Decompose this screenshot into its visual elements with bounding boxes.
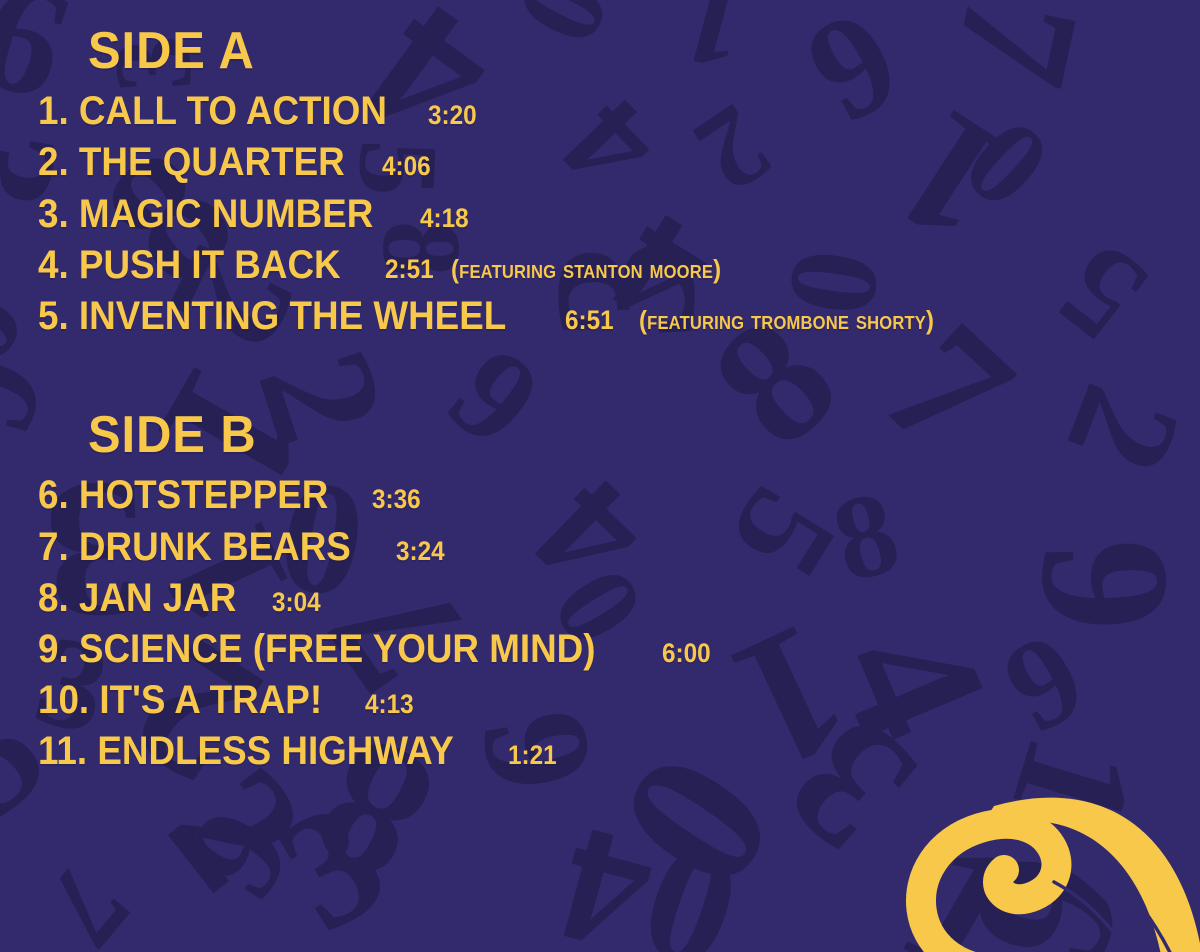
track-duration: 4:18 <box>420 203 469 234</box>
tracklist: SIDE A 1. CALL TO ACTION 3:20 2. THE QUA… <box>0 0 1200 778</box>
track-title: 7. DRUNK BEARS <box>38 525 351 570</box>
track-row: 8. JAN JAR 3:04 <box>38 573 1200 624</box>
track-feature-credit: (FEATURING TROMBONE SHORTY) <box>639 306 934 335</box>
track-row: 6. HOTSTEPPER 3:36 <box>38 470 1200 521</box>
track-row: 5. INVENTING THE WHEEL 6:51 (FEATURING T… <box>38 291 1200 342</box>
side-a-heading: SIDE A <box>88 22 1133 80</box>
track-duration: 2:51 <box>385 254 434 285</box>
track-duration: 1:21 <box>508 740 557 771</box>
track-title: 6. HOTSTEPPER <box>38 473 328 518</box>
background-numeral: 7 <box>33 854 142 952</box>
background-numeral: 6 <box>957 835 1143 952</box>
track-title: 11. ENDLESS HIGHWAY <box>38 729 454 774</box>
track-duration: 4:13 <box>365 689 414 720</box>
track-title: 2. THE QUARTER <box>38 140 345 185</box>
background-numeral: 3 <box>262 788 400 945</box>
track-title: 3. MAGIC NUMBER <box>38 192 373 237</box>
track-row: 1. CALL TO ACTION 3:20 <box>38 86 1200 137</box>
track-duration: 3:04 <box>272 587 321 618</box>
album-track-listing-sleeve: 9340167385421062834056129872310458632701… <box>0 0 1200 952</box>
track-title: 4. PUSH IT BACK <box>38 243 341 288</box>
track-title: 8. JAN JAR <box>38 576 236 621</box>
track-duration: 3:36 <box>372 484 421 515</box>
track-row: 3. MAGIC NUMBER 4:18 <box>38 189 1200 240</box>
background-numeral: 9 <box>173 796 302 911</box>
track-title: 9. SCIENCE (FREE YOUR MIND) <box>38 627 596 672</box>
track-duration: 4:06 <box>382 151 431 182</box>
track-row: 4. PUSH IT BACK 2:51 (FEATURING STANTON … <box>38 240 1200 291</box>
track-feature-credit: (FEATURING STANTON MOORE) <box>451 255 721 284</box>
track-title: 10. IT'S A TRAP! <box>38 678 322 723</box>
track-row: 9. SCIENCE (FREE YOUR MIND) 6:00 <box>38 624 1200 675</box>
track-duration: 3:20 <box>428 100 477 131</box>
track-row: 7. DRUNK BEARS 3:24 <box>38 522 1200 573</box>
track-title: 5. INVENTING THE WHEEL <box>38 294 506 339</box>
track-duration: 6:00 <box>662 638 711 669</box>
track-row: 11. ENDLESS HIGHWAY 1:21 <box>38 726 1200 777</box>
side-b-heading: SIDE B <box>88 406 1133 464</box>
track-duration: 6:51 <box>565 305 614 336</box>
track-row: 10. IT'S A TRAP! 4:13 <box>38 675 1200 726</box>
background-numeral: 1 <box>884 822 1042 952</box>
background-numeral: 0 <box>630 828 753 952</box>
track-row: 2. THE QUARTER 4:06 <box>38 137 1200 188</box>
track-title: 1. CALL TO ACTION <box>38 89 387 134</box>
track-duration: 3:24 <box>396 536 445 567</box>
background-numeral: 4 <box>547 815 662 952</box>
